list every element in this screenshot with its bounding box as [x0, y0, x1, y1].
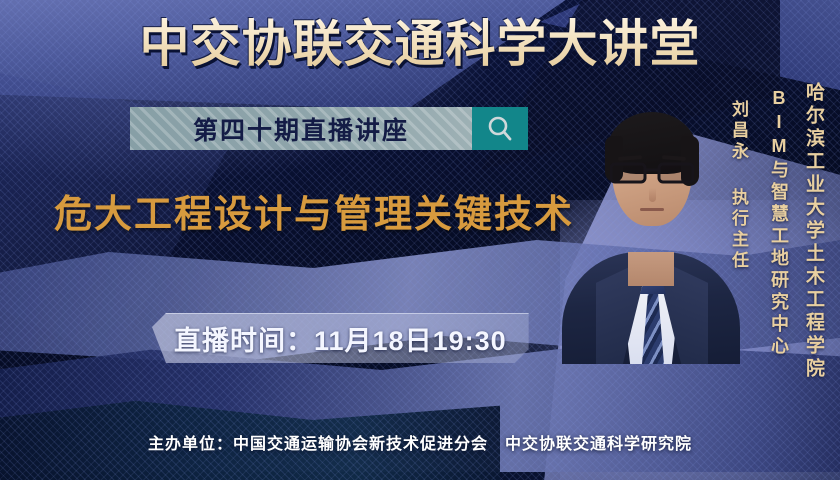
speaker-affiliation-center: BIM与智慧工地研究中心 [766, 88, 792, 358]
episode-label: 第四十期直播讲座 [193, 111, 409, 147]
speaker-role: 执行主任 [726, 188, 751, 272]
portrait-neck [628, 252, 674, 286]
portrait-mouth [640, 208, 664, 211]
organizer-footer: 主办单位：中国交通运输协会新技术促进分会 中交协联交通科学研究院 [0, 430, 840, 454]
glasses-icon [610, 162, 694, 184]
speaker-affiliation-school: 哈尔滨工业大学土木工程学院 [800, 82, 827, 381]
lecture-title: 危大工程设计与管理关键技术 [54, 190, 574, 240]
live-time-text: 直播时间：11月18日19:30 [174, 319, 507, 358]
promo-poster: 中交协联交通科学大讲堂 第四十期直播讲座 危大工程设计与管理关键技术 直播时间：… [0, 0, 840, 480]
live-time-pill: 直播时间：11月18日19:30 [152, 313, 529, 363]
background-wave-lower [0, 360, 500, 480]
portrait-nose [649, 188, 656, 202]
search-icon [485, 114, 515, 144]
main-title: 中交协联交通科学大讲堂 [0, 14, 840, 74]
episode-bar: 第四十期直播讲座 [130, 107, 528, 150]
search-button[interactable] [472, 107, 528, 150]
speaker-name: 刘昌永 [726, 100, 751, 163]
speaker-portrait [566, 96, 736, 364]
episode-label-panel: 第四十期直播讲座 [130, 107, 472, 150]
